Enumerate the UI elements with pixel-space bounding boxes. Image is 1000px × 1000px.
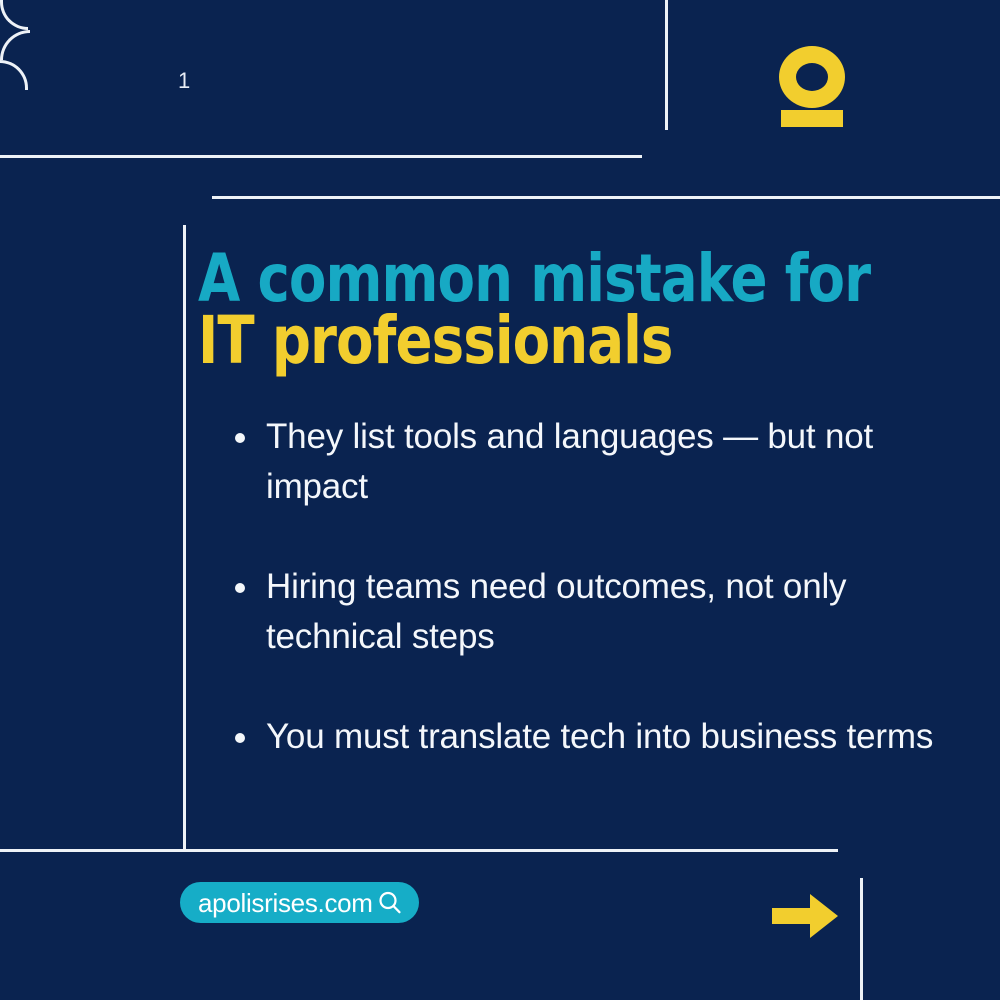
- content-panel-left-border: [183, 225, 186, 850]
- top-frame-corner: [0, 0, 28, 30]
- slide-canvas: 1 A common mistake for IT professionals …: [0, 0, 1000, 1000]
- content-panel-corner: [0, 30, 30, 60]
- website-url-pill[interactable]: apolisrises.com: [180, 882, 419, 923]
- list-item: They list tools and languages — but not …: [228, 412, 938, 512]
- bottom-frame-corner: [0, 60, 28, 90]
- list-item: Hiring teams need outcomes, not only tec…: [228, 562, 938, 662]
- list-item-text: Hiring teams need outcomes, not only tec…: [266, 567, 846, 656]
- list-item-text: They list tools and languages — but not …: [266, 417, 873, 506]
- headline-line-1: A common mistake for: [198, 248, 897, 310]
- bullet-list: They list tools and languages — but not …: [228, 412, 938, 762]
- bottom-frame-vertical-line: [860, 878, 863, 1000]
- arrow-right-icon[interactable]: [772, 892, 838, 940]
- headline-line-2: IT professionals: [198, 310, 897, 372]
- logo-bar-icon: [781, 110, 843, 127]
- bottom-frame-horizontal-line: [0, 849, 838, 852]
- bullet-dot-icon: [235, 433, 245, 443]
- page-title: A common mistake for IT professionals: [198, 248, 958, 372]
- website-url-text: apolisrises.com: [198, 890, 373, 916]
- logo-ring-icon: [779, 46, 845, 108]
- search-icon: [375, 888, 405, 918]
- bullet-dot-icon: [235, 733, 245, 743]
- page-number: 1: [178, 68, 191, 94]
- top-frame-vertical-line: [665, 0, 668, 130]
- list-item-text: You must translate tech into business te…: [266, 717, 933, 756]
- bullet-dot-icon: [235, 583, 245, 593]
- list-item: You must translate tech into business te…: [228, 712, 938, 762]
- top-frame-horizontal-line: [0, 155, 642, 158]
- content-panel-top-border: [212, 196, 1000, 199]
- apolis-logo: [775, 42, 849, 132]
